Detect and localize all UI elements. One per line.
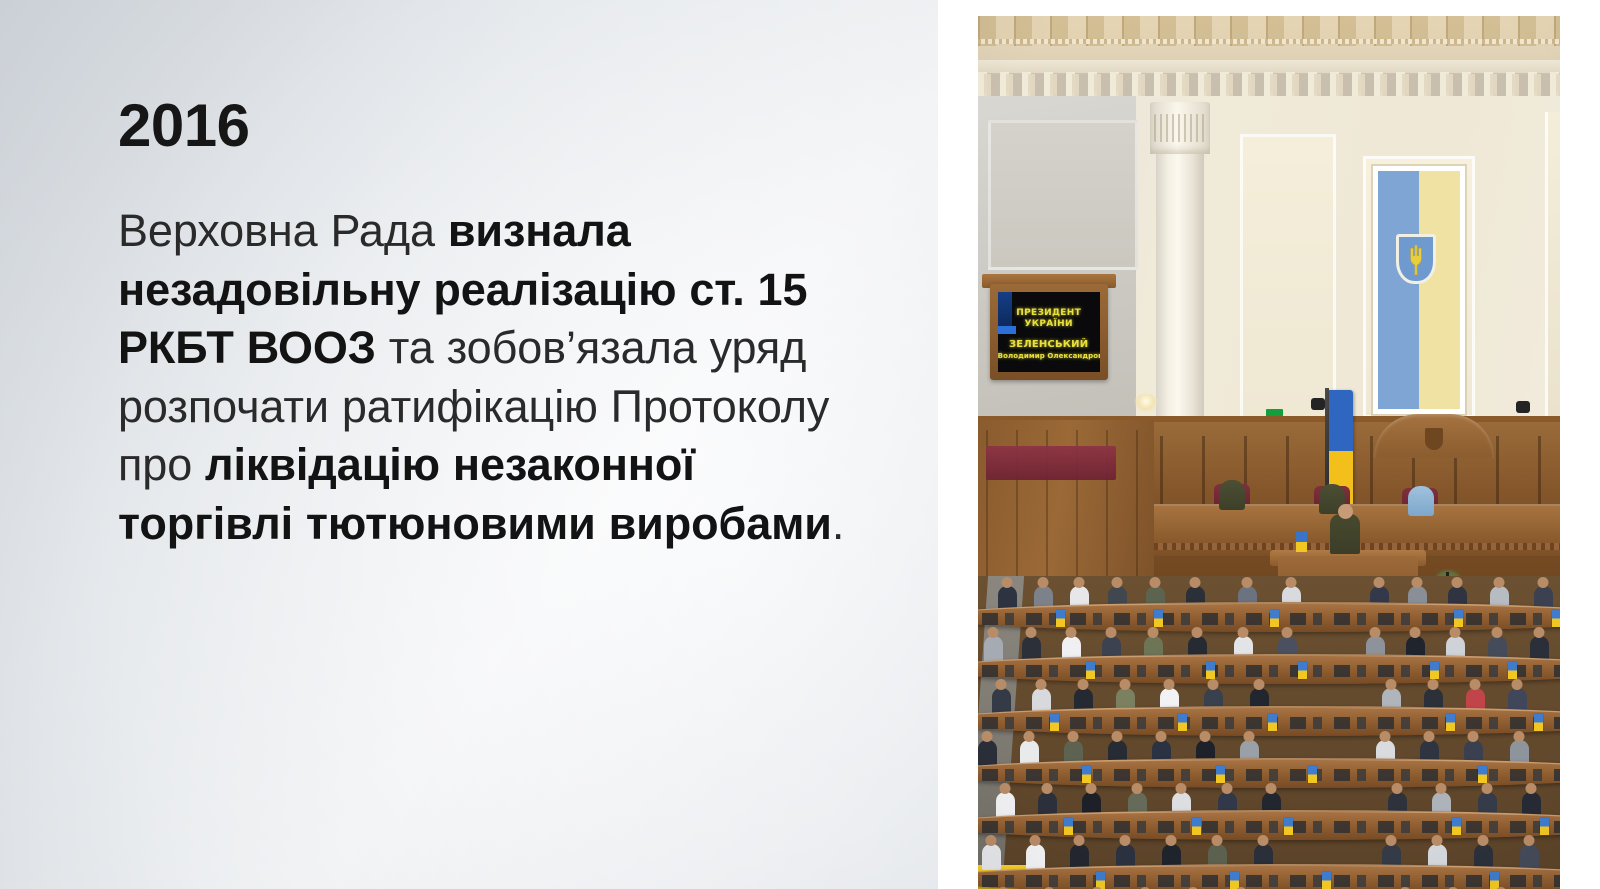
ukrainian-flag-wall-panel — [1373, 166, 1465, 414]
wall-panel-right — [1545, 112, 1560, 422]
presidium-official-1 — [1219, 480, 1245, 510]
wall-sconce-light — [1133, 394, 1159, 412]
display-board-line-2: УКРАЇНИ — [998, 319, 1100, 329]
podium-desk-flag — [1296, 532, 1307, 552]
marble-column — [1156, 108, 1204, 426]
body-paragraph: Верховна Рада визнала незадовільну реалі… — [118, 202, 878, 553]
text-block: 2016 Верховна Рада визнала незадовільну … — [118, 96, 878, 553]
wall-panel-left — [1240, 134, 1336, 424]
body-segment-5: . — [832, 498, 844, 549]
text-panel: 2016 Верховна Рада визнала незадовільну … — [0, 0, 938, 889]
presidium-official-3 — [1408, 486, 1434, 516]
left-wall-panel-trim — [988, 120, 1138, 270]
ceiling-coffers-icon — [978, 16, 1560, 46]
camera-left-icon — [1311, 398, 1325, 410]
ukrainian-trident-icon — [1396, 234, 1436, 284]
chamber-seating — [978, 576, 1560, 889]
mp-bench-row-6 — [978, 864, 1560, 889]
speaker-head — [1338, 504, 1353, 519]
body-segment-4-bold: ліквідацію незаконної торгівлі тютюновим… — [118, 439, 832, 549]
speaker-at-rostrum — [1330, 514, 1360, 554]
presidium-crest — [1425, 428, 1443, 450]
display-board-screen: ПРЕЗИДЕНТ УКРАЇНИ ЗЕЛЕНСЬКИЙ Володимир О… — [998, 292, 1100, 372]
column-capital — [1150, 102, 1210, 154]
camera-right-icon — [1516, 401, 1530, 413]
red-upholstered-seats — [986, 446, 1116, 480]
display-board-line-3: ЗЕЛЕНСЬКИЙ — [998, 339, 1100, 350]
body-segment-1: Верховна Рада — [118, 205, 448, 256]
parliament-chamber-photo: ПРЕЗИДЕНТ УКРАЇНИ ЗЕЛЕНСЬКИЙ Володимир О… — [978, 16, 1560, 889]
display-board-line-4: Володимир Олександрович — [998, 352, 1100, 360]
display-board-line-1: ПРЕЗИДЕНТ — [998, 308, 1100, 318]
slide-root: 2016 Верховна Рада визнала незадовільну … — [0, 0, 1600, 889]
year-heading: 2016 — [118, 96, 878, 156]
